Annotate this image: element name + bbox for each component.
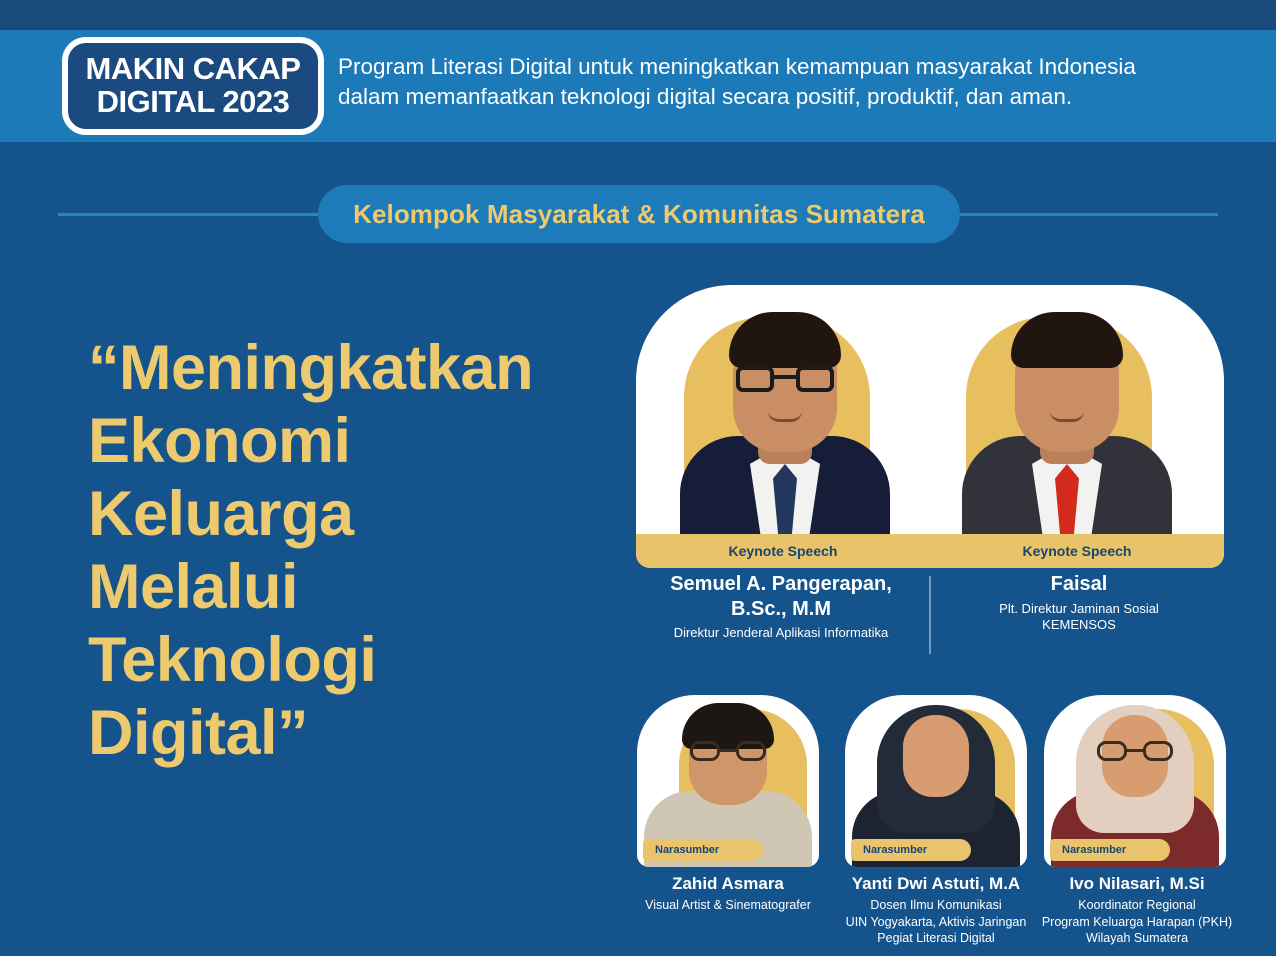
narasumber-face-1 — [903, 715, 969, 797]
top-dark-strip — [0, 0, 1276, 30]
keynote-caption-0: Semuel A. Pangerapan,B.Sc., M.M Direktur… — [636, 572, 926, 641]
section-title-pill: Kelompok Masyarakat & Komunitas Sumatera — [318, 185, 960, 243]
section-pill-row: Kelompok Masyarakat & Komunitas Sumatera — [0, 185, 1276, 243]
narasumber-glasses-0 — [690, 741, 766, 761]
headline-line-3: Melalui — [88, 551, 618, 624]
narasumber-card-0: Narasumber — [637, 695, 819, 867]
narasumber-card-1: Narasumber — [845, 695, 1027, 867]
narasumber-badge-0: Narasumber — [643, 839, 763, 861]
headline-line-1: Ekonomi — [88, 405, 618, 478]
keynote-speakers-card: Keynote Speech Keynote Speech — [636, 285, 1224, 568]
narasumber-caption-0: Zahid Asmara Visual Artist & Sinematogra… — [614, 874, 842, 914]
keynote-badge-0: Keynote Speech — [636, 534, 930, 568]
headline-line-5: Digital” — [88, 697, 618, 770]
keynote-name-0: Semuel A. Pangerapan,B.Sc., M.M — [636, 572, 926, 621]
program-logo-badge: MAKIN CAKAP DIGITAL 2023 — [62, 37, 324, 135]
header-tagline-line-2: dalam memanfaatkan teknologi digital sec… — [338, 82, 1248, 112]
keynote-captions: Semuel A. Pangerapan,B.Sc., M.M Direktur… — [636, 572, 1224, 656]
narasumber-caption-2: Ivo Nilasari, M.Si Koordinator RegionalP… — [1032, 874, 1242, 947]
keynote-badge-1: Keynote Speech — [930, 534, 1224, 568]
portrait-hair-0 — [729, 312, 841, 368]
headline-line-4: Teknologi — [88, 624, 618, 697]
keynote-role-0: Direktur Jenderal Aplikasi Informatika — [636, 625, 926, 641]
narasumber-role-1: Dosen Ilmu KomunikasiUIN Yogyakarta, Akt… — [836, 897, 1036, 947]
narasumber-glasses-2 — [1097, 741, 1173, 761]
keynote-caption-divider — [929, 576, 931, 654]
keynote-portrait-photo-1 — [936, 300, 1198, 568]
section-title-label: Kelompok Masyarakat & Komunitas Sumatera — [353, 199, 925, 230]
header-tagline-line-1: Program Literasi Digital untuk meningkat… — [338, 52, 1248, 82]
keynote-caption-1: Faisal Plt. Direktur Jaminan SosialKEMEN… — [934, 572, 1224, 633]
headline-line-2: Keluarga — [88, 478, 618, 551]
headline-quote: “Meningkatkan Ekonomi Keluarga Melalui T… — [88, 332, 618, 770]
keynote-portrait-photo-0 — [654, 300, 916, 568]
portrait-glasses-0 — [736, 366, 834, 392]
narasumber-role-2: Koordinator RegionalProgram Keluarga Har… — [1032, 897, 1242, 947]
keynote-role-1: Plt. Direktur Jaminan SosialKEMENSOS — [934, 601, 1224, 634]
narasumber-role-0: Visual Artist & Sinematografer — [614, 897, 842, 914]
narasumber-name-0: Zahid Asmara — [614, 874, 842, 894]
narasumber-badge-1: Narasumber — [851, 839, 971, 861]
headline-line-0: “Meningkatkan — [88, 332, 618, 405]
pill-rule-left — [58, 213, 326, 216]
narasumber-name-1: Yanti Dwi Astuti, M.A — [836, 874, 1036, 894]
keynote-label-bar: Keynote Speech Keynote Speech — [636, 534, 1224, 568]
narasumber-caption-1: Yanti Dwi Astuti, M.A Dosen Ilmu Komunik… — [836, 874, 1036, 947]
pill-rule-right — [952, 213, 1218, 216]
logo-line-2: DIGITAL 2023 — [97, 85, 290, 118]
logo-line-1: MAKIN CAKAP — [86, 52, 301, 85]
header-tagline: Program Literasi Digital untuk meningkat… — [338, 52, 1248, 112]
narasumber-badge-2: Narasumber — [1050, 839, 1170, 861]
narasumber-card-2: Narasumber — [1044, 695, 1226, 867]
portrait-hair-1 — [1011, 312, 1123, 368]
narasumber-name-2: Ivo Nilasari, M.Si — [1032, 874, 1242, 894]
keynote-name-1: Faisal — [934, 572, 1224, 597]
